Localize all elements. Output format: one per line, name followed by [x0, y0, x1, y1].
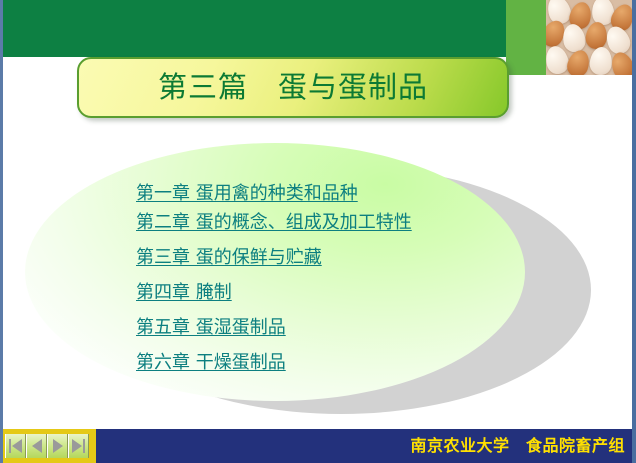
last-slide-arrow-icon [72, 439, 82, 453]
last-slide-bar-icon [83, 439, 85, 453]
first-slide-button[interactable] [5, 434, 26, 458]
chapter-link-4[interactable]: 第四章 腌制 [136, 284, 232, 302]
organization-label: 南京农业大学 食品院畜产组 [410, 429, 625, 463]
presentation-slide: 第三篇 蛋与蛋制品 第一章 蛋用禽的种类和品种 第二章 蛋的概念、组成及加工特性… [0, 0, 636, 463]
chapter-link-6[interactable]: 第六章 干燥蛋制品 [136, 354, 286, 372]
chapter-link-5[interactable]: 第五章 蛋湿蛋制品 [136, 319, 286, 337]
chapter-link-1[interactable]: 第一章 蛋用禽的种类和品种 [136, 185, 358, 203]
eggs-photo [546, 0, 632, 75]
chapter-list: 第一章 蛋用禽的种类和品种 第二章 蛋的概念、组成及加工特性 第三章 蛋的保鲜与… [136, 185, 536, 372]
header-light-green-band [506, 0, 546, 75]
first-slide-bar-icon [9, 439, 11, 453]
last-slide-button[interactable] [68, 434, 89, 458]
next-slide-arrow-icon [53, 439, 63, 453]
chapter-link-3[interactable]: 第三章 蛋的保鲜与贮藏 [136, 249, 322, 267]
previous-slide-button[interactable] [26, 434, 47, 458]
page-title: 第三篇 蛋与蛋制品 [158, 73, 428, 102]
footer-bar: 南京农业大学 食品院畜产组 [3, 429, 636, 463]
slide-title-banner: 第三篇 蛋与蛋制品 [77, 57, 509, 118]
header-dark-green-band [3, 0, 506, 57]
navigation-controls [3, 429, 96, 463]
first-slide-arrow-icon [12, 439, 22, 453]
previous-slide-arrow-icon [32, 439, 42, 453]
chapter-link-2[interactable]: 第二章 蛋的概念、组成及加工特性 [136, 214, 412, 232]
next-slide-button[interactable] [47, 434, 68, 458]
